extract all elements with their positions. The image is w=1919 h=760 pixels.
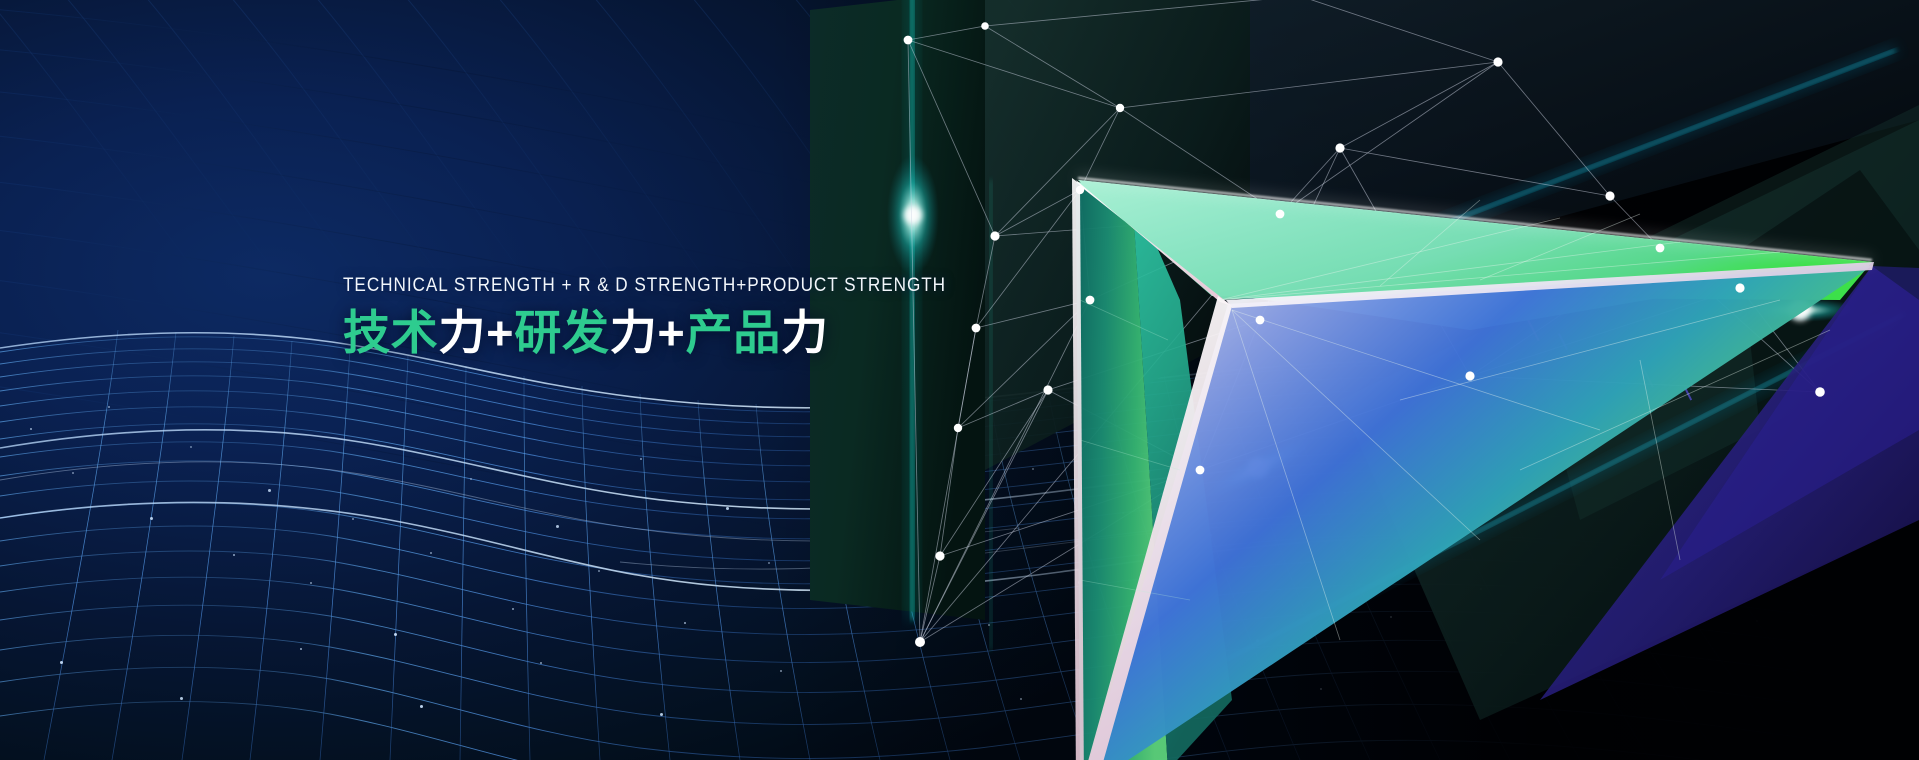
headline-cn-seg-5: 产品 (686, 306, 781, 359)
headline-cn-seg-3: 研发 (514, 306, 609, 359)
abstract-play-triangle-logo (780, 0, 1919, 760)
headline-chinese: 技术力+研发力+产品力 (343, 308, 1043, 359)
headline-cn-seg-1: 技术 (343, 306, 438, 359)
hero-banner: TECHNICAL STRENGTH + R & D STRENGTH+PROD… (0, 0, 1919, 760)
headline-cn-seg-2: 力+ (438, 306, 514, 359)
headline-cn-seg-6: 力 (781, 306, 829, 359)
headline-block: TECHNICAL STRENGTH + R & D STRENGTH+PROD… (343, 276, 1043, 358)
headline-english: TECHNICAL STRENGTH + R & D STRENGTH+PROD… (343, 276, 959, 296)
headline-cn-seg-4: 力+ (610, 306, 686, 359)
